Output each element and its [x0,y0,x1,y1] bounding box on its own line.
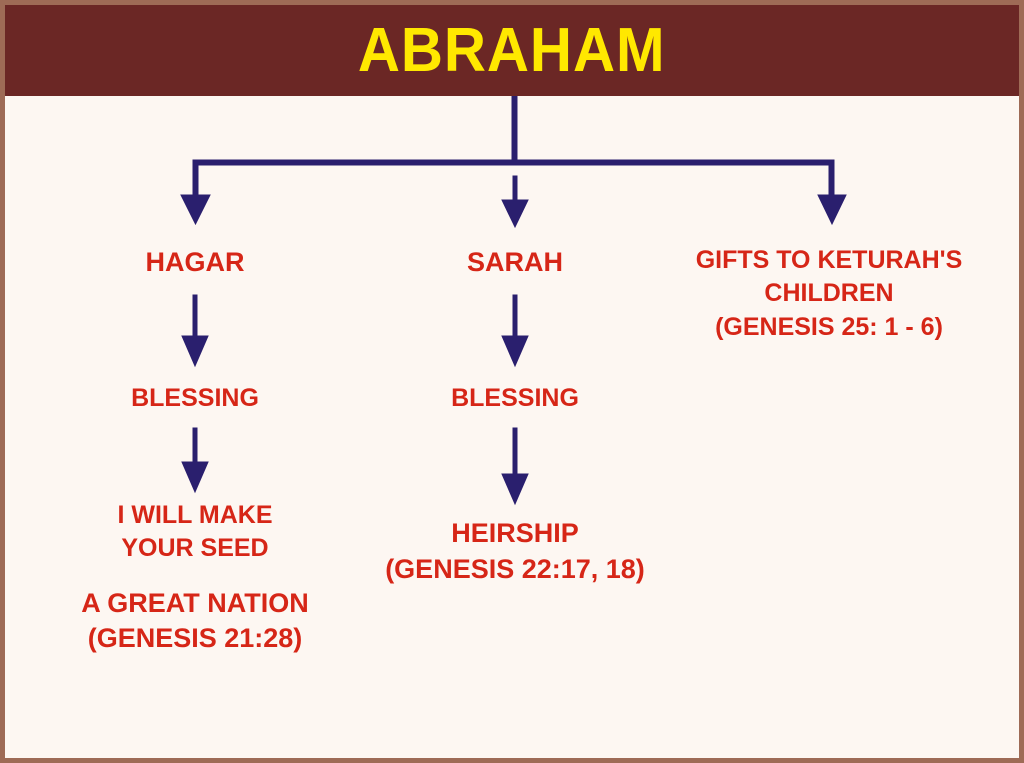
node-keturah-gifts: GIFTS TO KETURAH'S CHILDREN (GENESIS 25:… [649,244,1009,344]
arrow-stem-hagar [193,160,198,199]
arrow-head-hagar [181,195,210,224]
arrow-stem-keturah [829,160,834,199]
node-i-will-make-your-seed: I WILL MAKE YOUR SEED [35,499,355,564]
arrow-head-blessing-heirship [502,474,528,504]
node-a-great-nation: A GREAT NATION (GENESIS 21:28) [25,586,365,656]
arrow-head-sarah [502,200,528,227]
arrow-stem-sarah [513,176,517,206]
arrow-stem-blessing-seed [193,428,197,468]
node-blessing-sarah: BLESSING [451,384,579,414]
abraham-diagram-poster: ABRAHAM [0,0,1024,763]
arrow-head-blessing-seed [182,462,208,492]
node-heirship: HEIRSHIP (GENESIS 22:17, 18) [335,515,695,588]
header-bar: ABRAHAM [5,5,1019,96]
node-hagar: HAGAR [146,247,245,279]
arrow-head-hagar-blessing [182,336,208,366]
root-stem [512,96,517,163]
connector-lines [5,96,1019,758]
diagram-canvas: HAGAR SARAH GIFTS TO KETURAH'S CHILDREN … [5,96,1019,758]
branch-bar [193,160,834,165]
page-title: ABRAHAM [358,20,666,82]
node-blessing-hagar: BLESSING [131,384,259,414]
arrow-stem-sarah-blessing [513,295,517,342]
arrow-head-keturah [818,195,846,224]
node-sarah: SARAH [467,247,563,279]
arrow-stem-hagar-blessing [193,295,197,342]
arrow-stem-blessing-heirship [513,428,517,480]
arrow-head-sarah-blessing [502,336,528,366]
